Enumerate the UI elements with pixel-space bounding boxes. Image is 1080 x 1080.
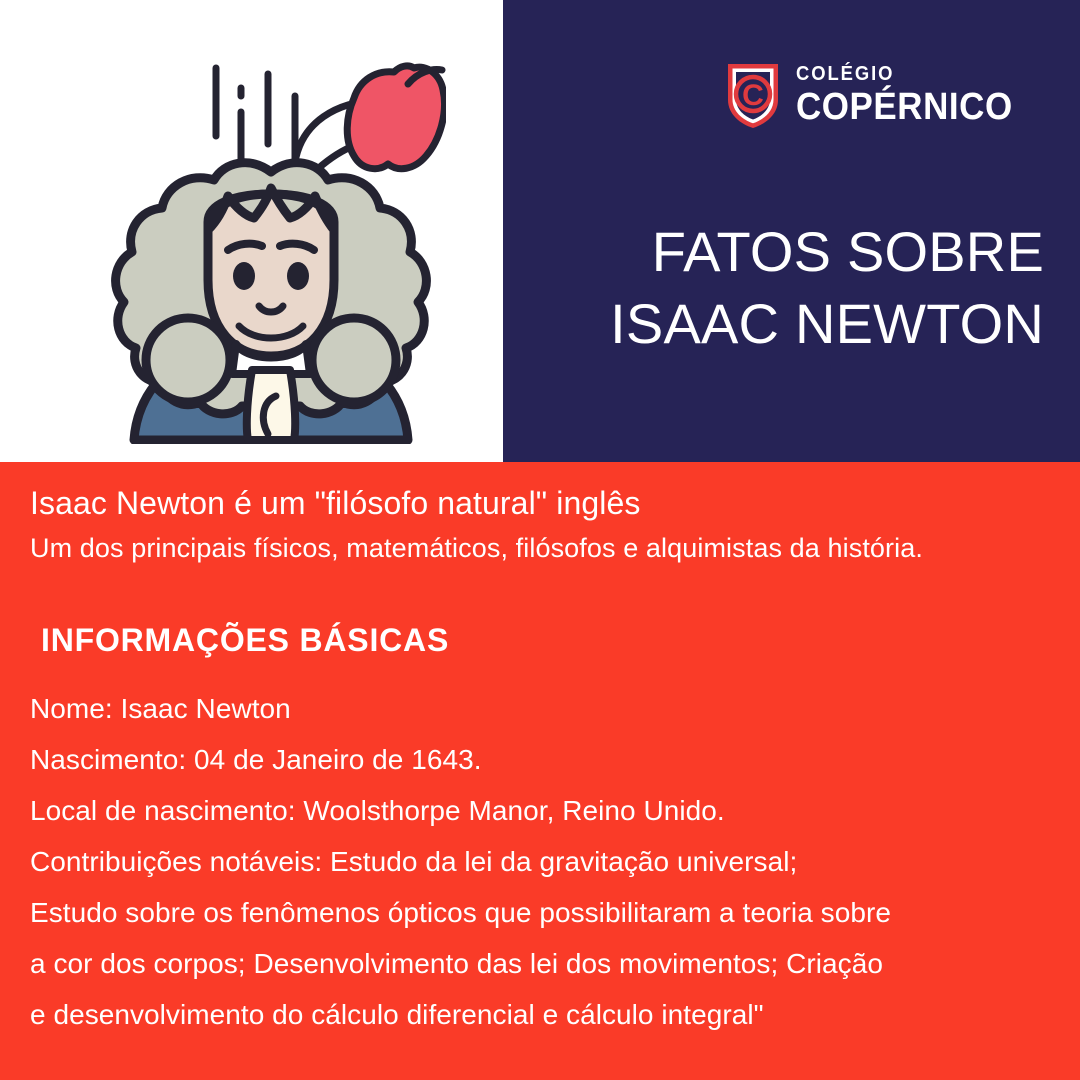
intro-headline: Isaac Newton é um "filósofo natural" ing… [30,485,1060,523]
intro-block: Isaac Newton é um "filósofo natural" ing… [30,485,1060,564]
basic-info-list: Nome: Isaac Newton Nascimento: 04 de Jan… [30,695,1065,1029]
section-heading-basic-info: INFORMAÇÕES BÁSICAS [41,622,449,659]
brand-wordmark: COLÉGIO COPÉRNICO [796,64,1032,126]
isaac-newton-apple-illustration [96,44,446,444]
list-item: Contribuições notáveis: Estudo da lei da… [30,848,1065,876]
page-title: FATOS SOBRE ISAAC NEWTON [544,216,1044,359]
intro-subline: Um dos principais físicos, matemáticos, … [30,532,1060,564]
list-item: a cor dos corpos; Desenvolvimento das le… [30,950,1065,978]
title-panel: C COLÉGIO COPÉRNICO FATOS SOBRE ISAAC NE… [503,0,1080,462]
title-line-2: ISAAC NEWTON [544,288,1044,360]
brand-name-top: COLÉGIO [796,64,1013,84]
list-item: Estudo sobre os fenômenos ópticos que po… [30,899,1065,927]
newton-facts-poster: C COLÉGIO COPÉRNICO FATOS SOBRE ISAAC NE… [0,0,1080,1080]
facts-section: Isaac Newton é um "filósofo natural" ing… [0,462,1080,1080]
list-item: Local de nascimento: Woolsthorpe Manor, … [30,797,1065,825]
logo-letter: C [743,79,765,112]
list-item: Nascimento: 04 de Janeiro de 1643. [30,746,1065,774]
list-item: Nome: Isaac Newton [30,695,1065,723]
falling-apple-icon [347,66,444,169]
poster-header-area: C COLÉGIO COPÉRNICO FATOS SOBRE ISAAC NE… [0,0,1080,462]
isaac-newton-portrait-icon [116,163,427,440]
brand-name-bottom: COPÉRNICO [796,88,1013,126]
brand-logo[interactable]: C COLÉGIO COPÉRNICO [724,60,1032,130]
shield-c-logo-icon: C [724,60,782,130]
list-item: e desenvolvimento do cálculo diferencial… [30,1001,1065,1029]
title-line-1: FATOS SOBRE [544,216,1044,288]
